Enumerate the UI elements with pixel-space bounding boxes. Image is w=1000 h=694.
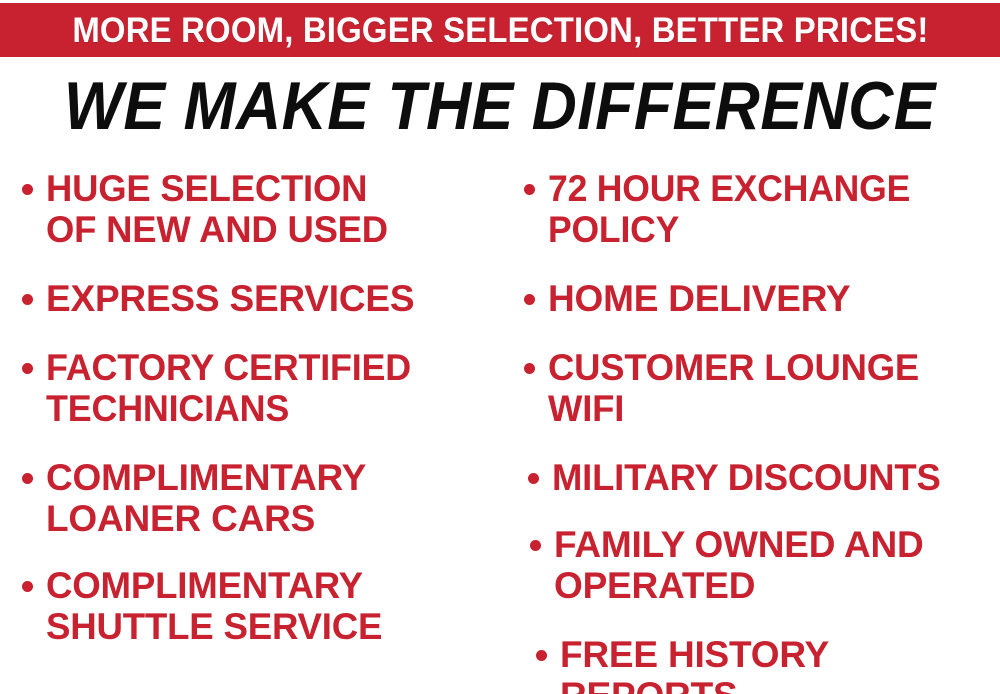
list-item: FREE HISTORY REPORTS bbox=[536, 634, 1000, 694]
list-item-label: HUGE SELECTION OF NEW AND USED bbox=[46, 168, 493, 250]
bullet-dot-icon bbox=[22, 294, 33, 305]
page-title: WE MAKE THE DIFFERENCE bbox=[64, 72, 936, 140]
list-item: EXPRESS SERVICES bbox=[22, 278, 500, 319]
bullet-dot-icon bbox=[22, 184, 33, 195]
list-item-label: FREE HISTORY REPORTS bbox=[560, 634, 1000, 694]
bullet-dot-icon bbox=[528, 473, 539, 484]
list-item-label: COMPLIMENTARY LOANER CARS bbox=[46, 457, 500, 539]
list-item-label: CUSTOMER LOUNGE WIFI bbox=[548, 347, 993, 429]
list-item: FAMILY OWNED AND OPERATED bbox=[530, 524, 1000, 606]
list-item: HUGE SELECTION OF NEW AND USED bbox=[22, 168, 500, 250]
list-item-label: FACTORY CERTIFIED TECHNICIANS bbox=[46, 347, 486, 429]
benefits-column-left: HUGE SELECTION OF NEW AND USED EXPRESS S… bbox=[0, 158, 500, 675]
bullet-dot-icon bbox=[530, 540, 541, 551]
bullet-dot-icon bbox=[524, 184, 535, 195]
list-item-label: COMPLIMENTARY SHUTTLE SERVICE bbox=[46, 565, 495, 647]
list-item: COMPLIMENTARY SHUTTLE SERVICE bbox=[22, 565, 500, 647]
list-item: FACTORY CERTIFIED TECHNICIANS bbox=[22, 347, 500, 429]
bullet-dot-icon bbox=[524, 294, 535, 305]
bullet-dot-icon bbox=[536, 650, 547, 661]
benefits-column-right: 72 HOUR EXCHANGE POLICY HOME DELIVERY CU… bbox=[500, 158, 1000, 694]
list-item-label: 72 HOUR EXCHANGE POLICY bbox=[548, 168, 982, 250]
list-item: HOME DELIVERY bbox=[524, 278, 1000, 319]
list-item: 72 HOUR EXCHANGE POLICY bbox=[524, 168, 1000, 250]
list-item: CUSTOMER LOUNGE WIFI bbox=[524, 347, 1000, 429]
bullet-dot-icon bbox=[22, 581, 33, 592]
bullet-dot-icon bbox=[22, 363, 33, 374]
list-item-label: FAMILY OWNED AND OPERATED bbox=[554, 524, 1000, 606]
benefits-columns: HUGE SELECTION OF NEW AND USED EXPRESS S… bbox=[0, 158, 1000, 694]
top-banner: MORE ROOM, BIGGER SELECTION, BETTER PRIC… bbox=[0, 3, 1000, 57]
list-item-label: EXPRESS SERVICES bbox=[46, 278, 500, 319]
list-item: COMPLIMENTARY LOANER CARS bbox=[22, 457, 500, 539]
list-item-label: MILITARY DISCOUNTS bbox=[552, 457, 993, 498]
list-item-label: HOME DELIVERY bbox=[548, 278, 1000, 319]
banner-headline-text: MORE ROOM, BIGGER SELECTION, BETTER PRIC… bbox=[72, 13, 928, 48]
promo-poster: MORE ROOM, BIGGER SELECTION, BETTER PRIC… bbox=[0, 0, 1000, 694]
list-item: MILITARY DISCOUNTS bbox=[528, 457, 1000, 498]
bullet-dot-icon bbox=[524, 363, 535, 374]
headline-container: WE MAKE THE DIFFERENCE bbox=[0, 68, 1000, 144]
bullet-dot-icon bbox=[22, 473, 33, 484]
